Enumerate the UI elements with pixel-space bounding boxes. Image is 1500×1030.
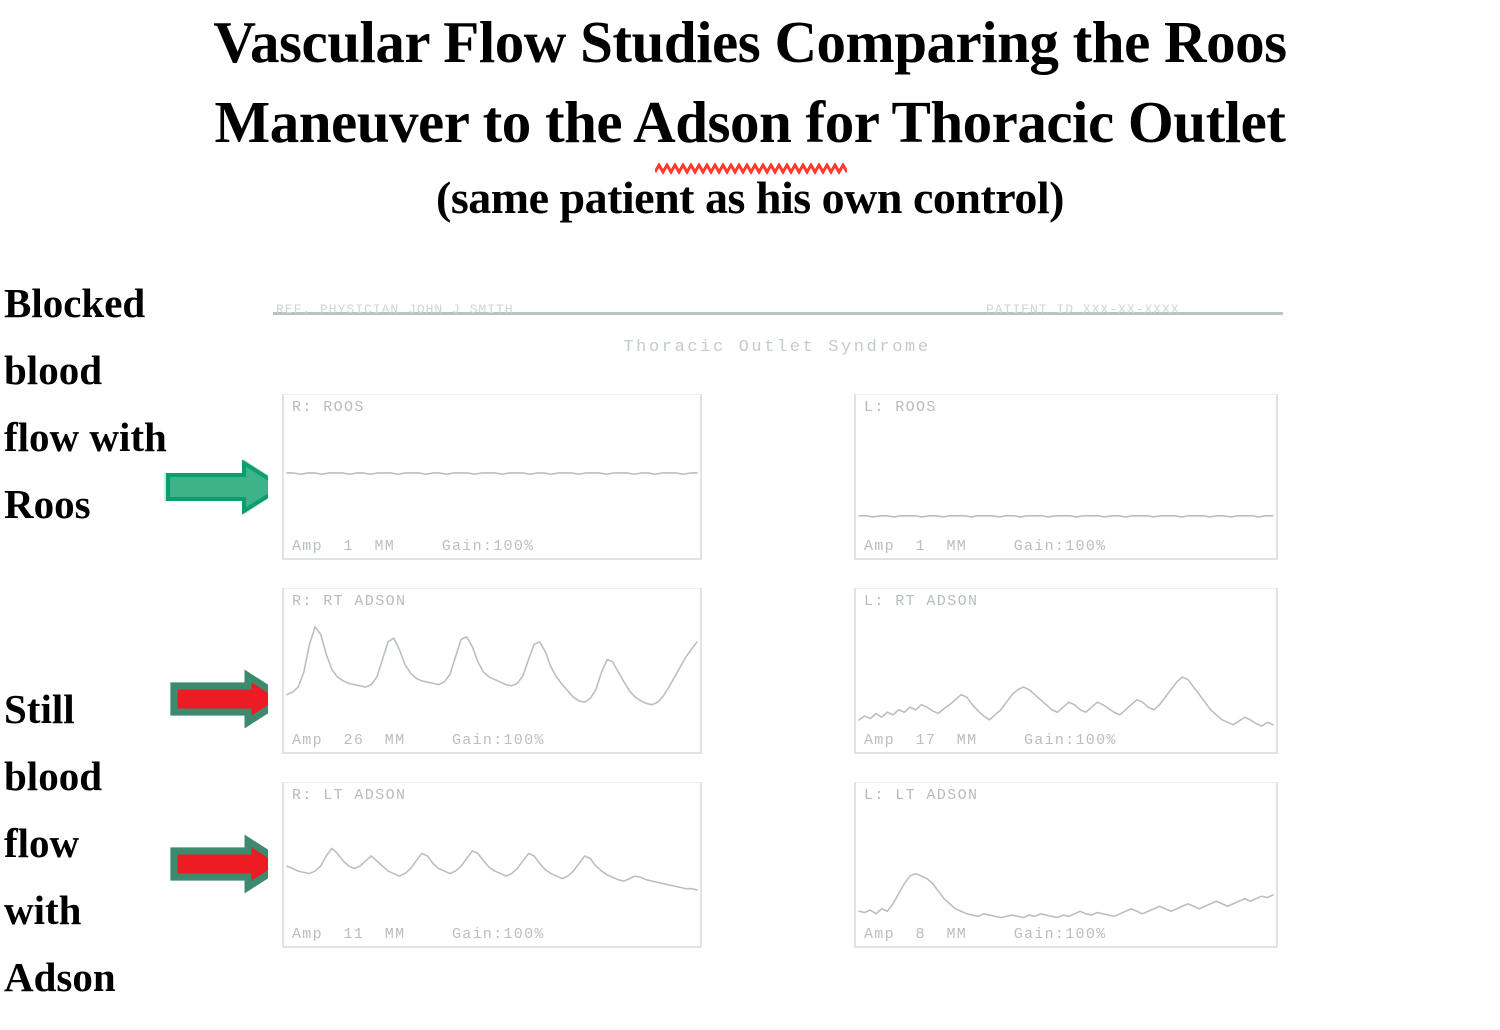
amp-unit-l-lt-adson: MM (946, 926, 967, 943)
waveform-trace-r-rt-adson (284, 589, 700, 752)
amp-label-l-lt-adson: Amp (864, 926, 895, 943)
gain-label-r-roos: Gain:100% (442, 538, 535, 555)
amp-label-r-roos: Amp (292, 538, 323, 555)
amp-value-r-lt-adson: 11 (344, 926, 365, 943)
panel-label-l-rt-adson: L: RT ADSON (864, 593, 978, 610)
annotation-still-flow: Still blood flow with Adson (4, 676, 116, 1011)
panel-label-l-roos: L: ROOS (864, 399, 937, 416)
amp-unit-l-roos: MM (946, 538, 967, 555)
amp-unit-l-rt-adson: MM (957, 732, 978, 749)
amp-value-l-lt-adson: 8 (916, 926, 926, 943)
gain-label-l-lt-adson: Gain:100% (1014, 926, 1107, 943)
annotation-still-line-4: Adson (4, 944, 116, 1011)
waveform-trace-r-roos (284, 395, 700, 558)
panel-label-l-lt-adson: L: LT ADSON (864, 787, 978, 804)
report-subtitle: Thoracic Outlet Syndrome (268, 338, 1286, 357)
annotation-blocked-line-2: flow with (4, 404, 167, 471)
amp-value-l-rt-adson: 17 (916, 732, 937, 749)
panel-footer-l-roos: Amp 1 MM Gain:100% (864, 538, 1106, 555)
spellcheck-squiggle-icon (655, 163, 847, 175)
waveform-panel-l-lt-adson[interactable]: L: LT ADSON Amp 8 MM Gain:100% (854, 782, 1278, 948)
report-header-left: REF. PHYSICIAN JOHN J SMITH (276, 302, 514, 317)
annotation-blocked-line-1: blood (4, 337, 167, 404)
amp-label-l-rt-adson: Amp (864, 732, 895, 749)
panel-footer-l-rt-adson: Amp 17 MM Gain:100% (864, 732, 1117, 749)
waveform-panel-r-rt-adson[interactable]: R: RT ADSON Amp 26 MM Gain:100% (282, 588, 702, 754)
panel-label-r-rt-adson: R: RT ADSON (292, 593, 406, 610)
panel-label-r-roos: R: ROOS (292, 399, 365, 416)
annotation-blocked-flow: Blocked blood flow with Roos (4, 270, 167, 538)
waveform-panel-l-roos[interactable]: L: ROOS Amp 1 MM Gain:100% (854, 394, 1278, 560)
annotation-still-line-3: with (4, 877, 116, 944)
waveform-trace-l-lt-adson (856, 783, 1276, 946)
title-line-1: Vascular Flow Studies Comparing the Roos (0, 2, 1500, 82)
panel-footer-l-lt-adson: Amp 8 MM Gain:100% (864, 926, 1106, 943)
gain-label-r-lt-adson: Gain:100% (452, 926, 545, 943)
panel-label-r-lt-adson: R: LT ADSON (292, 787, 406, 804)
panel-footer-r-rt-adson: Amp 26 MM Gain:100% (292, 732, 545, 749)
annotation-blocked-line-0: Blocked (4, 270, 167, 337)
title-line-2: Maneuver to the Adson for Thoracic Outle… (0, 82, 1500, 162)
waveform-trace-l-rt-adson (856, 589, 1276, 752)
waveform-trace-r-lt-adson (284, 783, 700, 946)
gain-label-l-roos: Gain:100% (1014, 538, 1107, 555)
amp-value-r-rt-adson: 26 (344, 732, 365, 749)
amp-unit-r-roos: MM (374, 538, 395, 555)
amp-value-r-roos: 1 (344, 538, 354, 555)
amp-value-l-roos: 1 (916, 538, 926, 555)
waveform-panel-r-lt-adson[interactable]: R: LT ADSON Amp 11 MM Gain:100% (282, 782, 702, 948)
vascular-report-sheet: REF. PHYSICIAN JOHN J SMITH PATIENT ID X… (268, 300, 1286, 1000)
annotation-still-line-1: blood (4, 743, 116, 810)
annotation-still-line-2: flow (4, 810, 116, 877)
amp-label-l-roos: Amp (864, 538, 895, 555)
panel-footer-r-lt-adson: Amp 11 MM Gain:100% (292, 926, 545, 943)
waveform-trace-l-roos (856, 395, 1276, 558)
amp-unit-r-rt-adson: MM (385, 732, 406, 749)
panel-footer-r-roos: Amp 1 MM Gain:100% (292, 538, 534, 555)
slide-title: Vascular Flow Studies Comparing the Roos… (0, 2, 1500, 234)
waveform-panel-r-roos[interactable]: R: ROOS Amp 1 MM Gain:100% (282, 394, 702, 560)
amp-label-r-lt-adson: Amp (292, 926, 323, 943)
annotation-blocked-line-3: Roos (4, 471, 167, 538)
amp-unit-r-lt-adson: MM (385, 926, 406, 943)
amp-label-r-rt-adson: Amp (292, 732, 323, 749)
waveform-panel-l-rt-adson[interactable]: L: RT ADSON Amp 17 MM Gain:100% (854, 588, 1278, 754)
annotation-still-line-0: Still (4, 676, 116, 743)
report-header-right: PATIENT ID XXX-XX-XXXX (986, 302, 1180, 317)
gain-label-l-rt-adson: Gain:100% (1024, 732, 1117, 749)
gain-label-r-rt-adson: Gain:100% (452, 732, 545, 749)
